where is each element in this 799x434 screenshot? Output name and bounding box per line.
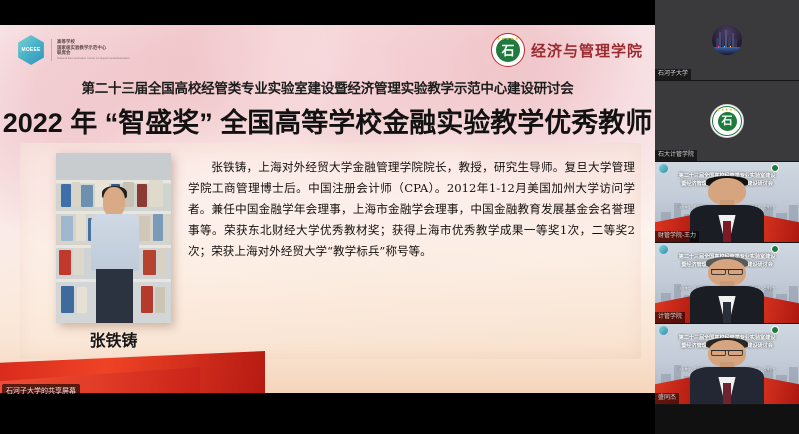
glasses-icon <box>711 269 743 273</box>
meeting-window: MOEEE 高等学校 国家级实验教学示范中心 联席会 National Demo… <box>0 0 799 434</box>
consortium-logo: MOEEE 高等学校 国家级实验教学示范中心 联席会 National Demo… <box>16 35 130 65</box>
seal-stars: ★★★★★ <box>711 107 743 112</box>
participant-figure <box>655 324 799 404</box>
consortium-subtitle: National Demonstration Center for Experi… <box>57 57 130 60</box>
hexagon-logo-text: MOEEE <box>21 47 40 53</box>
speaker-bio: 张铁铸，上海对外经贸大学金融管理学院院长，教授，研究生导师。复旦大学管理学院工商… <box>188 157 635 262</box>
school-seal-avatar-icon: ★★★★★ 石 <box>710 104 744 138</box>
participant-tile[interactable]: 石河子大学 <box>655 0 799 81</box>
slide-body: 任重道远 <box>20 143 641 359</box>
participant-figure <box>655 243 799 323</box>
award-title: 2022 年 “智盛奖” 全国高等学校金融实验教学优秀教师 <box>0 101 655 140</box>
city-avatar-icon <box>712 25 742 55</box>
participant-strip[interactable]: 石河子大学 ★★★★★ 石 石大计管学院 <box>655 0 799 434</box>
hexagon-logo-icon: MOEEE <box>16 35 46 65</box>
presentation-slide: MOEEE 高等学校 国家级实验教学示范中心 联席会 National Demo… <box>0 25 655 393</box>
participant-figure <box>655 162 799 242</box>
participant-tile[interactable]: ★★★★★ 石 石大计管学院 <box>655 81 799 162</box>
participant-name: 盛同杰 <box>655 393 679 404</box>
shared-screen-area[interactable]: MOEEE 高等学校 国家级实验教学示范中心 联席会 National Demo… <box>0 0 655 434</box>
participant-tile[interactable]: 第二十三届全国高校经管类专业实验室建设 暨经济管理实验教学示范中心建设研讨会 主… <box>655 243 799 324</box>
participant-tile[interactable]: 第二十三届全国高校经管类专业实验室建设 暨经济管理实验教学示范中心建设研讨会 主… <box>655 162 799 243</box>
seal-stars: ★★★★★ <box>492 36 524 41</box>
speaker-name: 张铁铸 <box>56 327 171 351</box>
school-logo: ★★★★★ 石 经济与管理学院 <box>491 33 643 67</box>
seal-character: 石 <box>718 112 737 131</box>
glasses-icon <box>711 350 743 354</box>
participant-name: 财管学院-王力 <box>655 231 699 242</box>
school-name: 经济与管理学院 <box>531 40 643 61</box>
participant-name: 计管学院 <box>655 312 685 323</box>
conference-title: 第二十三届全国高校经管类专业实验室建设暨经济管理实验教学示范中心建设研讨会 <box>0 77 655 97</box>
participant-name: 石河子大学 <box>655 69 691 80</box>
speaker-photo <box>56 153 171 323</box>
consortium-line3: 联席会 <box>57 50 130 56</box>
speaker-figure <box>91 187 139 323</box>
participant-tile[interactable]: 第二十三届全国高校经管类专业实验室建设 暨经济管理实验教学示范中心建设研讨会 主… <box>655 324 799 405</box>
screen-share-label: 石河子大学的共享屏幕 <box>2 384 80 398</box>
seal-character: 石 <box>496 38 520 62</box>
participant-name: 石大计管学院 <box>655 150 697 161</box>
school-seal-icon: ★★★★★ 石 <box>491 33 525 67</box>
